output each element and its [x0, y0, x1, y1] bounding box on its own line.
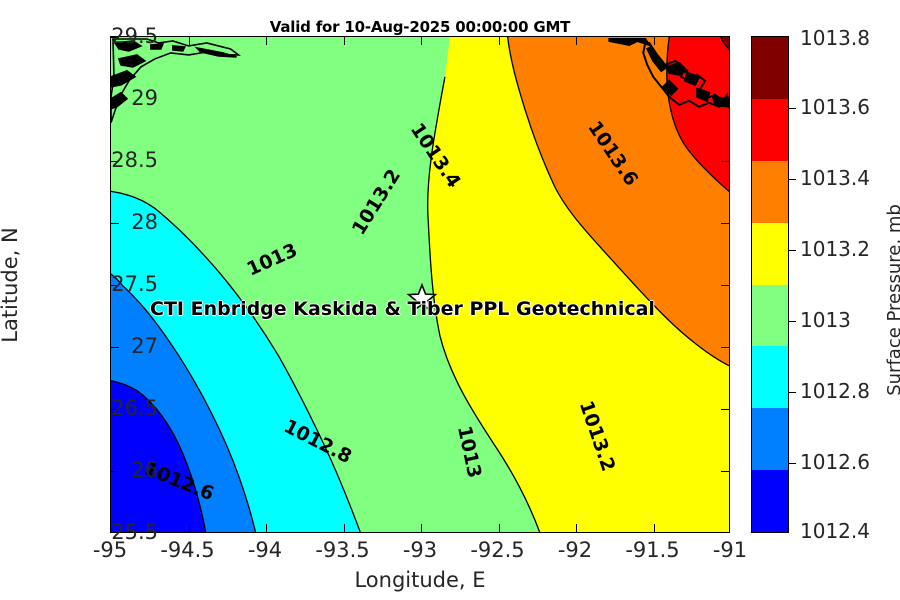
xtick-label-5: -92.5: [470, 538, 524, 562]
xtick-label-2: -94: [248, 538, 282, 562]
contour-plot-area[interactable]: 1013.4 1013.6 1013.2 1013 1012.8 1012.6 …: [110, 36, 730, 533]
cb-label-4: 1013: [800, 308, 851, 332]
cb-band-1013p8: [752, 37, 788, 99]
cb-band-1013p0: [752, 285, 788, 347]
cb-band-1013p6: [752, 99, 788, 161]
y-axis-title: Latitude, N: [0, 227, 22, 343]
ytick-label-5: 27: [131, 334, 158, 358]
xtick-in-7: [576, 524, 577, 532]
contour-svg: 1013.4 1013.6 1013.2 1013 1012.8 1012.6 …: [111, 37, 729, 532]
xtick-in-2: [189, 524, 190, 532]
page-title: Valid for 10-Aug-2025 00:00:00 GMT: [110, 18, 730, 36]
ytick-label-3: 28: [131, 210, 158, 234]
ytick-in-8: [111, 471, 119, 472]
pressure-contour-figure: Valid for 10-Aug-2025 00:00:00 GMT: [0, 0, 900, 600]
xtick-t-7: [576, 37, 577, 45]
ytick-r-6: [721, 347, 729, 348]
xtick-in-5: [421, 524, 422, 532]
cb-label-5: 1012.8: [800, 379, 870, 403]
xtick-t-5: [421, 37, 422, 45]
cb-band-1012p8: [752, 346, 788, 408]
xtick-t-8: [654, 37, 655, 45]
cb-label-6: 1012.6: [800, 450, 870, 474]
cb-label-7: 1012.4: [800, 519, 870, 543]
ytick-r-8: [721, 471, 729, 472]
ytick-label-7: 26: [131, 458, 158, 482]
cb-band-1012p6: [752, 408, 788, 470]
xtick-in-8: [654, 524, 655, 532]
colorbar[interactable]: [751, 36, 789, 533]
cb-label-0: 1013.8: [800, 26, 870, 50]
cb-label-1: 1013.6: [800, 95, 870, 119]
xtick-in-3: [266, 524, 267, 532]
ytick-label-2: 28.5: [111, 148, 158, 172]
colorbar-title: Surface Pressure, mb: [884, 204, 900, 396]
ytick-label-4: 27.5: [111, 272, 158, 296]
cb-tick-5: [788, 392, 796, 393]
ytick-r-7: [721, 409, 729, 410]
xtick-label-1: -94.5: [160, 538, 214, 562]
cb-tick-1: [788, 108, 796, 109]
xtick-t-2: [189, 37, 190, 45]
ytick-r-4: [721, 223, 729, 224]
ytick-label-0: 29.5: [111, 24, 158, 48]
xtick-label-7: -91.5: [625, 538, 679, 562]
xtick-t-4: [344, 37, 345, 45]
xtick-label-4: -93: [403, 538, 437, 562]
xtick-in-4: [344, 524, 345, 532]
xtick-label-0: -95: [93, 538, 127, 562]
cb-tick-3: [788, 250, 796, 251]
ytick-in-6: [111, 347, 119, 348]
ytick-r-3: [721, 161, 729, 162]
cb-label-3: 1013.2: [800, 237, 870, 261]
xtick-in-6: [499, 524, 500, 532]
ytick-in-4: [111, 223, 119, 224]
xtick-label-3: -93.5: [315, 538, 369, 562]
cb-band-1013p4: [752, 161, 788, 223]
xtick-t-3: [266, 37, 267, 45]
site-annotation-label: CTI Enbridge Kaskida & Tiber PPL Geotech…: [150, 298, 655, 320]
xtick-label-8: -91: [713, 538, 747, 562]
cb-tick-6: [788, 463, 796, 464]
xtick-label-6: -92: [558, 538, 592, 562]
cb-label-2: 1013.4: [800, 166, 870, 190]
ytick-in-2: [111, 99, 119, 100]
cb-band-1012p4: [752, 470, 788, 532]
ytick-label-1: 29: [131, 86, 158, 110]
cb-tick-4: [788, 321, 796, 322]
ytick-label-6: 26.5: [111, 396, 158, 420]
ytick-r-5: [721, 285, 729, 286]
xtick-t-6: [499, 37, 500, 45]
cb-tick-2: [788, 179, 796, 180]
x-axis-title: Longitude, E: [354, 568, 485, 592]
cb-band-1013p2: [752, 223, 788, 285]
ytick-r-2: [721, 99, 729, 100]
